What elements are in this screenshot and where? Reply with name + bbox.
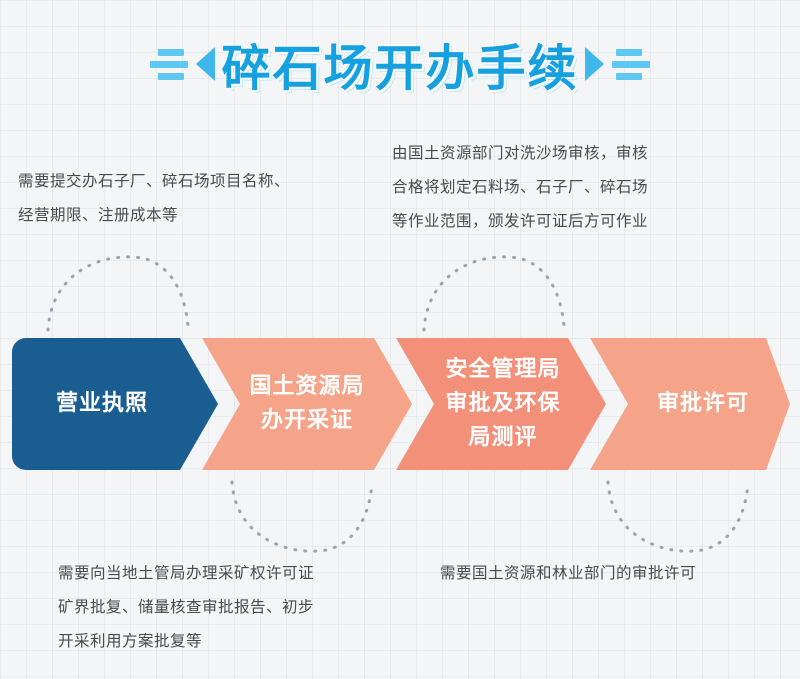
flow-step-3-label: 安全管理局 审批及环保 局测评 [439, 353, 566, 455]
flow-step-4-label: 审批许可 [651, 387, 755, 421]
caption-bottom-right: 需要国土资源和林业部门的审批许可 [440, 556, 780, 590]
infographic-stage: 碎石场开办手续 01 02 03 04 营业执照 国土资源局 办开采证 安全管理… [0, 0, 800, 679]
flow-step-4[interactable]: 审批许可 [590, 338, 790, 470]
flow-step-2-label: 国土资源局 办开采证 [243, 370, 370, 438]
flow-step-1[interactable]: 营业执照 [12, 338, 218, 470]
title-arrow-left-icon [196, 47, 215, 81]
arc-top-right [424, 257, 564, 330]
flow-step-2[interactable]: 国土资源局 办开采证 [202, 338, 412, 470]
arc-bottom-right [608, 482, 748, 551]
flow-step-1-label: 营业执照 [50, 387, 154, 421]
arc-top-left [48, 257, 188, 330]
title-bar: 碎石场开办手续 [0, 16, 800, 112]
caption-bottom-left: 需要向当地土管局办理采矿权许可证 矿界批复、储量核查审批报告、初步 开采利用方案… [58, 556, 418, 658]
flow-step-3[interactable]: 安全管理局 审批及环保 局测评 [396, 338, 606, 470]
page-title: 碎石场开办手续 [215, 29, 584, 100]
arc-bottom-left [232, 482, 372, 551]
title-arrow-right-icon [585, 47, 604, 81]
process-flow: 营业执照 国土资源局 办开采证 安全管理局 审批及环保 局测评 审批许可 [12, 338, 790, 470]
caption-top-left: 需要提交办石子厂、碎石场项目名称、 经营期限、注册成本等 [18, 164, 378, 232]
title-decoration-right [612, 49, 656, 80]
title-decoration-left [144, 49, 188, 80]
caption-top-right: 由国土资源部门对洗沙场审核，审核 合格将划定石料场、石子厂、碎石场 等作业范围，… [392, 136, 752, 238]
